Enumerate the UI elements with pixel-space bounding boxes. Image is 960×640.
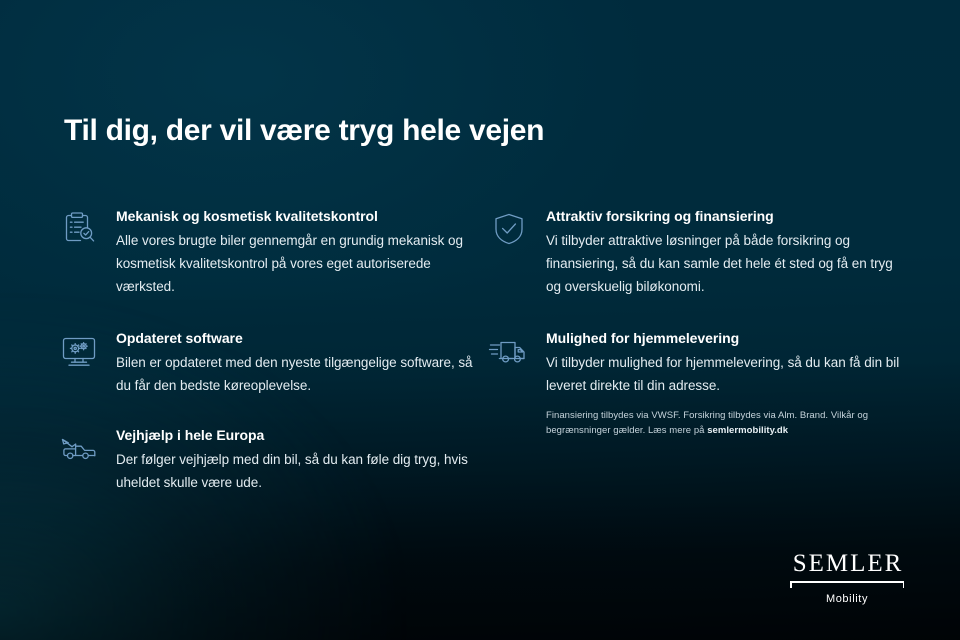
tow-truck-icon — [58, 427, 100, 469]
feature-title: Attraktiv forsikring og finansiering — [546, 206, 908, 226]
feature-body: Vi tilbyder mulighed for hjemmelevering,… — [546, 351, 908, 397]
monitor-gears-icon — [58, 330, 100, 372]
legal-fineprint: Finansiering tilbydes via VWSF. Forsikri… — [546, 408, 876, 438]
fineprint-website-link[interactable]: semlermobility.dk — [707, 425, 788, 436]
feature-column-right: Attraktiv forsikring og finansiering Vi … — [488, 206, 908, 423]
shield-check-icon — [488, 208, 530, 250]
feature-item-home-delivery: Mulighed for hjemmelevering Vi tilbyder … — [488, 328, 908, 397]
logo-bracket-rule — [790, 581, 904, 589]
feature-body: Bilen er opdateret med den nyeste tilgæn… — [116, 351, 478, 397]
logo-wordmark: SEMLER — [788, 550, 906, 578]
feature-item-updated-software: Opdateret software Bilen er opdateret me… — [58, 328, 478, 397]
slide-content: Til dig, der vil være tryg hele vejen — [0, 0, 960, 640]
feature-item-quality-control: Mekanisk og kosmetisk kvalitetskontrol A… — [58, 206, 478, 298]
logo-subtitle: Mobility — [788, 591, 906, 607]
delivery-truck-icon — [488, 330, 530, 372]
feature-body: Alle vores brugte biler gennemgår en gru… — [116, 229, 478, 298]
semler-mobility-logo: SEMLER Mobility — [788, 550, 906, 607]
logo-rule-tick-right — [903, 581, 905, 588]
feature-title: Opdateret software — [116, 328, 478, 348]
feature-body: Vi tilbyder attraktive løsninger på både… — [546, 229, 908, 298]
feature-item-insurance-financing: Attraktiv forsikring og finansiering Vi … — [488, 206, 908, 298]
feature-title: Mulighed for hjemmelevering — [546, 328, 908, 348]
logo-rule-bar — [790, 581, 904, 583]
fineprint-line-1: Finansiering tilbydes via VWSF. Forsikri… — [546, 410, 828, 421]
feature-body: Der følger vejhjælp med din bil, så du k… — [116, 448, 478, 494]
feature-title: Mekanisk og kosmetisk kvalitetskontrol — [116, 206, 478, 226]
clipboard-magnifier-icon — [58, 208, 100, 250]
feature-column-left: Mekanisk og kosmetisk kvalitetskontrol A… — [58, 206, 478, 520]
slide-root: Til dig, der vil være tryg hele vejen — [0, 0, 960, 640]
feature-item-roadside-assistance: Vejhjælp i hele Europa Der følger vejhjæ… — [58, 425, 478, 494]
page-title: Til dig, der vil være tryg hele vejen — [64, 112, 544, 150]
feature-title: Vejhjælp i hele Europa — [116, 425, 478, 445]
logo-rule-tick-left — [790, 581, 792, 588]
